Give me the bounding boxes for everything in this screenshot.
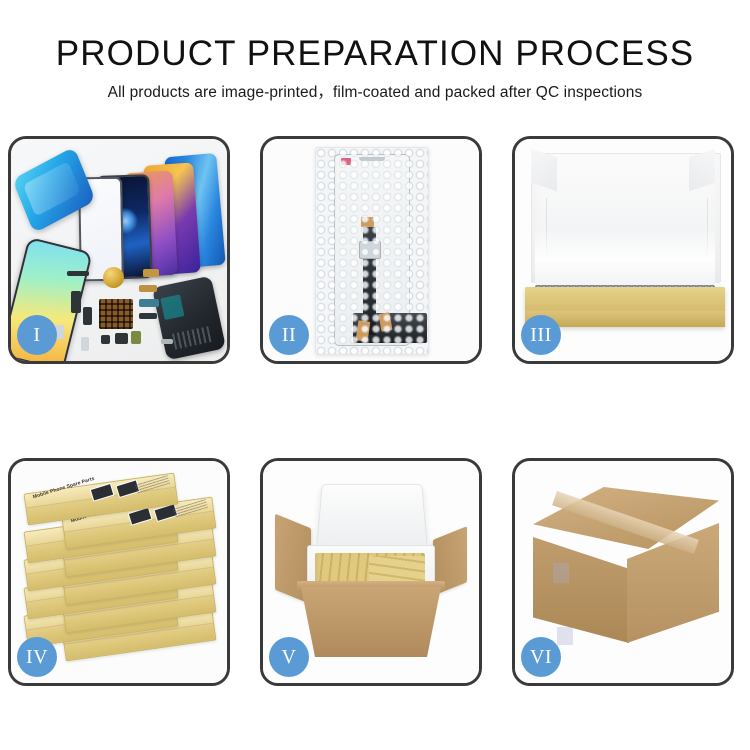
step-badge-2: II xyxy=(269,315,309,355)
phone-logic-board xyxy=(152,276,226,361)
small-part xyxy=(139,313,157,319)
step-panel-1: I xyxy=(8,136,230,364)
small-part xyxy=(115,333,128,344)
small-part xyxy=(71,291,81,313)
adhesive-tape xyxy=(361,217,374,227)
page-title: PRODUCT PREPARATION PROCESS xyxy=(0,34,750,74)
phone-notch xyxy=(359,157,385,161)
carton-handle-slot xyxy=(553,563,569,583)
page-header: PRODUCT PREPARATION PROCESS All products… xyxy=(0,0,750,104)
small-part xyxy=(139,299,159,307)
small-part xyxy=(143,269,159,277)
process-steps-grid: I II xyxy=(8,136,742,686)
white-foam-sheet xyxy=(535,227,715,285)
carton-front-panel xyxy=(301,587,441,657)
lcd-screen-assembly xyxy=(334,154,410,346)
step-badge-1: I xyxy=(17,315,57,355)
small-part xyxy=(81,337,89,351)
step-badge-6: VI xyxy=(521,637,561,677)
bubble-wrap-bag xyxy=(315,147,429,355)
styrofoam-lid xyxy=(316,484,429,552)
step-panel-2: II xyxy=(260,136,482,364)
flex-connector xyxy=(359,241,381,259)
small-part xyxy=(139,285,157,292)
step-panel-6: VI xyxy=(512,458,734,686)
copper-grid-part xyxy=(99,299,133,329)
step-badge-3: III xyxy=(521,315,561,355)
small-part xyxy=(101,335,110,344)
pink-label-tab xyxy=(341,158,351,165)
step-panel-5: V xyxy=(260,458,482,686)
carton-handle-slot xyxy=(557,627,573,645)
small-part xyxy=(131,331,141,344)
step-badge-5: V xyxy=(269,637,309,677)
carton-left-face xyxy=(533,537,629,643)
small-part xyxy=(67,271,89,276)
step-badge-4: IV xyxy=(17,637,57,677)
small-part xyxy=(161,339,173,344)
step-panel-4: Mobile Phone Spare Parts Mobile Phone Sp… xyxy=(8,458,230,686)
step-panel-3: III xyxy=(512,136,734,364)
page-subtitle: All products are image-printed，film-coat… xyxy=(0,82,750,104)
gold-coil-part xyxy=(103,267,124,288)
small-part xyxy=(83,307,92,325)
